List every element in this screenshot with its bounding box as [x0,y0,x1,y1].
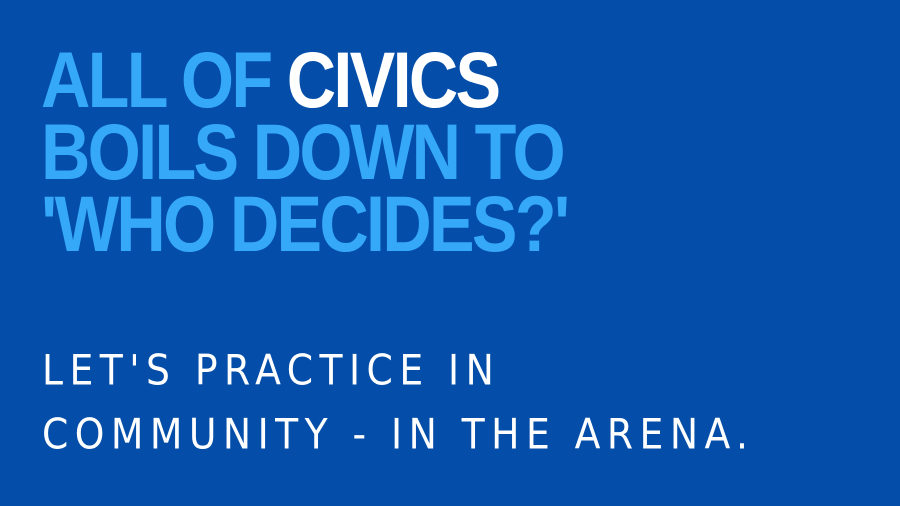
slide-canvas: ALL OF CIVICS BOILS DOWN TO 'WHO DECIDES… [0,0,900,506]
headline-line-1: ALL OF CIVICS [41,44,750,116]
headline-line-3: 'WHO DECIDES?' [41,188,750,260]
subtitle-line-1: LET'S PRACTICE IN [42,337,815,403]
subtitle-block: LET'S PRACTICE IN COMMUNITY - IN THE ARE… [42,338,882,466]
headline-line-2: BOILS DOWN TO [41,116,750,188]
headline-block: ALL OF CIVICS BOILS DOWN TO 'WHO DECIDES… [41,44,861,260]
subtitle-line-2: COMMUNITY - IN THE ARENA. [42,401,815,467]
